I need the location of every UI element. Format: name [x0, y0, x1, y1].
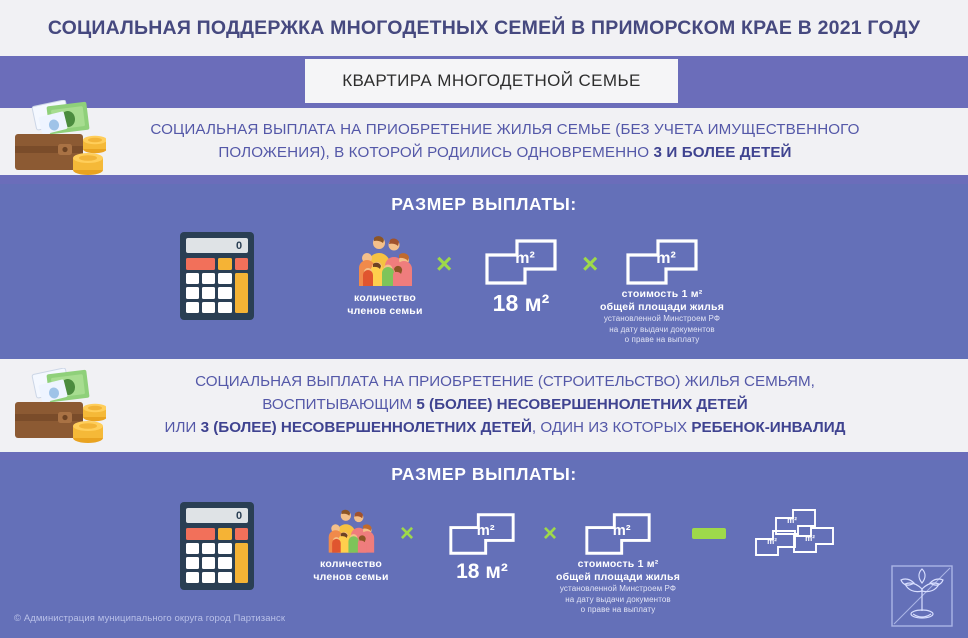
- divider-band-1: [0, 175, 968, 184]
- calculator-key: [235, 258, 248, 269]
- infographic-page: СОЦИАЛЬНАЯ ПОДДЕРЖКА МНОГОДЕТНЫХ СЕМЕЙ В…: [0, 0, 968, 638]
- multiply-operator-icon: ×: [436, 250, 452, 278]
- subtitle-card: КВАРТИРА МНОГОДЕТНОЙ СЕМЬЕ: [305, 59, 678, 103]
- calculator-keys: [186, 258, 248, 313]
- family-count-label: количество членов семьи: [330, 292, 440, 318]
- section2-desc-line3-bold-a: 3 (БОЛЕЕ) НЕСОВЕРШЕННОЛЕТНИХ ДЕТЕЙ: [201, 419, 532, 436]
- calculator-key: [186, 543, 199, 554]
- calculator-key: [218, 273, 231, 284]
- footer-copyright: © Администрация муниципального округа го…: [14, 613, 285, 624]
- calculator-key: [202, 572, 215, 583]
- family-count-label: количество членов семьи: [300, 558, 402, 584]
- calculator-key: [218, 572, 231, 583]
- multiply-operator-icon: ×: [582, 250, 598, 278]
- calculator-key: [235, 273, 248, 313]
- calculator-key: [218, 528, 231, 539]
- calculator-key: [186, 302, 199, 313]
- calculator-key: [186, 572, 199, 583]
- apartment-m2-icon: m²: [625, 238, 699, 286]
- svg-text:m²: m²: [805, 534, 815, 543]
- svg-text:m²: m²: [787, 516, 797, 525]
- section2-desc-line3-plain-b: , ОДИН ИЗ КОТОРЫХ: [532, 419, 691, 436]
- calculator-display: 0: [186, 238, 248, 253]
- calculator-key: [186, 273, 199, 284]
- section2-desc-line2-plain: ВОСПИТЫВАЮЩИМ: [262, 396, 416, 413]
- multiply-operator-icon: ×: [543, 522, 557, 546]
- calculator-display: 0: [186, 508, 248, 523]
- svg-text:m²: m²: [656, 250, 676, 267]
- divider-band-2: [0, 452, 968, 460]
- family-group-icon: [349, 234, 421, 290]
- calculator-key: [218, 543, 231, 554]
- calculator-icon: 0: [180, 502, 254, 590]
- cost-per-m2-line1: стоимость 1 м²: [582, 288, 742, 301]
- calculator-key: [235, 528, 248, 539]
- calculator-key: [202, 543, 215, 554]
- section2-desc-line3-plain-a: ИЛИ: [165, 419, 201, 436]
- calculator-key: [218, 557, 231, 568]
- apartment-m2-icon: m²: [584, 512, 652, 556]
- family-count-label-line2: членов семьи: [300, 571, 402, 584]
- section1-desc-line2-plain: ПОЛОЖЕНИЯ), В КОТОРОЙ РОДИЛИСЬ ОДНОВРЕМЕ…: [218, 144, 653, 161]
- page-title: СОЦИАЛЬНАЯ ПОДДЕРЖКА МНОГОДЕТНЫХ СЕМЕЙ В…: [0, 0, 968, 56]
- wallet-money-icon: [14, 100, 106, 178]
- section2-desc-line3-bold-b: РЕБЕНОК-ИНВАЛИД: [691, 419, 845, 436]
- section2-description: СОЦИАЛЬНАЯ ВЫПЛАТА НА ПРИОБРЕТЕНИЕ (СТРО…: [70, 370, 940, 439]
- calculator-key: [202, 302, 215, 313]
- cost-per-m2-label: стоимость 1 м² общей площади жилья устан…: [541, 558, 695, 616]
- family-count-label-line1: количество: [300, 558, 402, 571]
- svg-text:m²: m²: [477, 523, 495, 539]
- cost-per-m2-note2: на дату выдачи документов: [582, 325, 742, 336]
- calculator-key: [235, 543, 248, 583]
- section1-desc-line1: СОЦИАЛЬНАЯ ВЫПЛАТА НА ПРИОБРЕТЕНИЕ ЖИЛЬЯ…: [150, 121, 859, 138]
- calculator-keys: [186, 528, 248, 583]
- calculator-key: [186, 557, 199, 568]
- calculator-key: [202, 287, 215, 298]
- cost-per-m2-line2: общей площади жилья: [541, 571, 695, 584]
- cost-per-m2-note2: на дату выдачи документов: [541, 595, 695, 606]
- calculator-key: [202, 273, 215, 284]
- minus-operator-icon: [692, 528, 726, 539]
- area-per-person-value: 18 м²: [448, 560, 516, 584]
- svg-text:m²: m²: [767, 537, 777, 546]
- svg-text:m²: m²: [515, 250, 535, 267]
- cost-per-m2-note1: установленной Минстроем РФ: [582, 314, 742, 325]
- cost-per-m2-note3: о праве на выплату: [541, 605, 695, 616]
- calculator-key: [186, 287, 199, 298]
- calculator-key: [202, 557, 215, 568]
- section2-desc-line1: СОЦИАЛЬНАЯ ВЫПЛАТА НА ПРИОБРЕТЕНИЕ (СТРО…: [195, 373, 815, 390]
- partizansk-coat-of-arms-icon: [889, 563, 955, 629]
- multiple-apartments-m2-icon: m² m² m²: [750, 505, 836, 557]
- calculator-key: [186, 528, 216, 539]
- cost-per-m2-line2: общей площади жилья: [582, 301, 742, 314]
- section2-desc-line2-bold: 5 (БОЛЕЕ) НЕСОВЕРШЕННОЛЕТНИХ ДЕТЕЙ: [416, 396, 747, 413]
- family-group-icon: [320, 508, 382, 556]
- cost-per-m2-note3: о праве на выплату: [582, 335, 742, 346]
- section1-size-heading: РАЗМЕР ВЫПЛАТЫ:: [0, 194, 968, 215]
- cost-per-m2-label: стоимость 1 м² общей площади жилья устан…: [582, 288, 742, 346]
- svg-text:m²: m²: [613, 523, 631, 539]
- calculator-key: [218, 287, 231, 298]
- calculator-key: [218, 302, 231, 313]
- calculator-key: [218, 258, 231, 269]
- section2-size-heading: РАЗМЕР ВЫПЛАТЫ:: [0, 464, 968, 485]
- section1-description: СОЦИАЛЬНАЯ ВЫПЛАТА НА ПРИОБРЕТЕНИЕ ЖИЛЬЯ…: [110, 118, 900, 164]
- cost-per-m2-line1: стоимость 1 м²: [541, 558, 695, 571]
- cost-per-m2-note1: установленной Минстроем РФ: [541, 584, 695, 595]
- area-per-person-value: 18 м²: [484, 290, 558, 317]
- apartment-m2-icon: m²: [484, 238, 558, 286]
- family-count-label-line2: членов семьи: [330, 305, 440, 318]
- apartment-m2-icon: m²: [448, 512, 516, 556]
- family-count-label-line1: количество: [330, 292, 440, 305]
- calculator-icon: 0: [180, 232, 254, 320]
- section1-desc-line2-bold: 3 И БОЛЕЕ ДЕТЕЙ: [654, 144, 792, 161]
- multiply-operator-icon: ×: [400, 522, 414, 546]
- calculator-key: [186, 258, 216, 269]
